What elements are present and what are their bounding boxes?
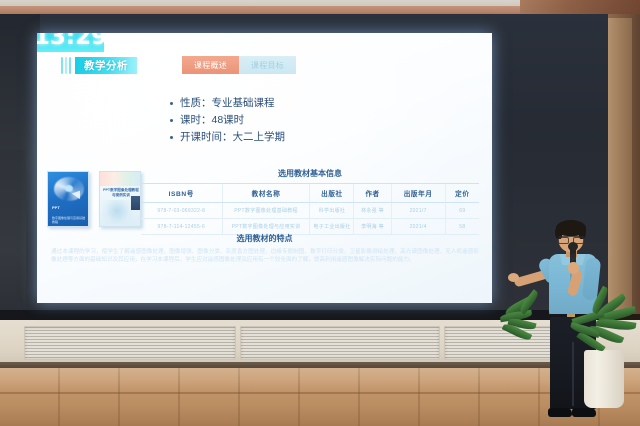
right-hand-holding-mic: [568, 262, 579, 274]
lecture-hall-photo: 13:29 教学分析 课程概述 课程目标 性质：专业基础课程 课时：48课时 开…: [0, 0, 640, 426]
tab-course-overview[interactable]: 课程概述: [182, 56, 239, 74]
column-header-price: 定价: [445, 184, 479, 203]
left-hand: [508, 273, 519, 282]
column-header-title: 教材名称: [222, 184, 310, 203]
swirl-core-icon: [65, 185, 73, 192]
potted-plant: [568, 300, 640, 410]
projector-clock: 13:29: [37, 33, 104, 52]
slide-tabs: 课程概述 课程目标: [182, 56, 296, 74]
feature-section-body: 通过本课程的学习，使学生了解遥感图像处理、图像增强、图像分类、灰度直方图处理、边…: [51, 248, 479, 264]
bullet-item: 课时：48课时: [169, 112, 285, 129]
book-title: PPT: [52, 205, 86, 210]
screen-shadow-left: [0, 150, 26, 320]
feature-section-title: 选用教材的特点: [37, 233, 492, 244]
textbook-info-table: ISBN号 教材名称 出版社 作者 出版年月 定价 978-7-03-06932…: [141, 183, 479, 235]
air-vent-panel: [24, 326, 236, 360]
book-spine-tab: [131, 196, 140, 210]
cell-date: 2021/7: [391, 203, 445, 219]
bullet-item: 开课时间：大二上学期: [169, 129, 285, 146]
cell-title: PPT数字图像处理基础教程: [222, 203, 310, 219]
glasses-icon: [558, 236, 584, 241]
column-header-date: 出版年月: [391, 184, 445, 203]
column-header-author: 作者: [354, 184, 391, 203]
projected-slide: 13:29 教学分析 课程概述 课程目标 性质：专业基础课程 课时：48课时 开…: [37, 33, 492, 303]
table-title: 选用教材基本信息: [141, 165, 479, 183]
slide-bullet-list: 性质：专业基础课程 课时：48课时 开课时间：大二上学期: [169, 95, 285, 146]
textbook-cover-blue: PPT 数字图像处理与应用基础教程: [47, 171, 89, 227]
table-header-row: ISBN号 教材名称 出版社 作者 出版年月 定价: [141, 184, 479, 203]
plant-pot: [584, 350, 624, 408]
textbook-cover-white: PPT数字图像处理教程与案例实训: [99, 171, 141, 227]
cell-isbn: 978-7-03-069322-8: [141, 203, 222, 219]
cell-publisher: 科学出版社: [310, 203, 354, 219]
book-top-band: [100, 172, 140, 186]
column-header-publisher: 出版社: [310, 184, 354, 203]
slide-title-row: 教学分析: [61, 57, 137, 74]
cell-author: 林永强 等: [354, 203, 391, 219]
cell-price: 69: [445, 203, 479, 219]
air-vent-panel: [240, 326, 440, 360]
title-accent-bars-icon: [61, 57, 71, 74]
tab-course-goals[interactable]: 课程目标: [239, 56, 296, 74]
textbook-cover-images: PPT 数字图像处理与应用基础教程 PPT数字图像处理教程与案例实训: [47, 171, 141, 227]
bullet-item: 性质：专业基础课程: [169, 95, 285, 112]
table-row: 978-7-03-069322-8 PPT数字图像处理基础教程 科学出版社 林永…: [141, 203, 479, 219]
microphone-head-icon: [568, 242, 578, 251]
textbook-info-table-wrapper: 选用教材基本信息 ISBN号 教材名称 出版社 作者 出版年月 定价 978-7…: [141, 165, 479, 235]
slide-title-badge: 教学分析: [75, 57, 137, 74]
book-subtitle: 数字图像处理与应用基础教程: [52, 216, 86, 224]
column-header-isbn: ISBN号: [141, 184, 222, 203]
